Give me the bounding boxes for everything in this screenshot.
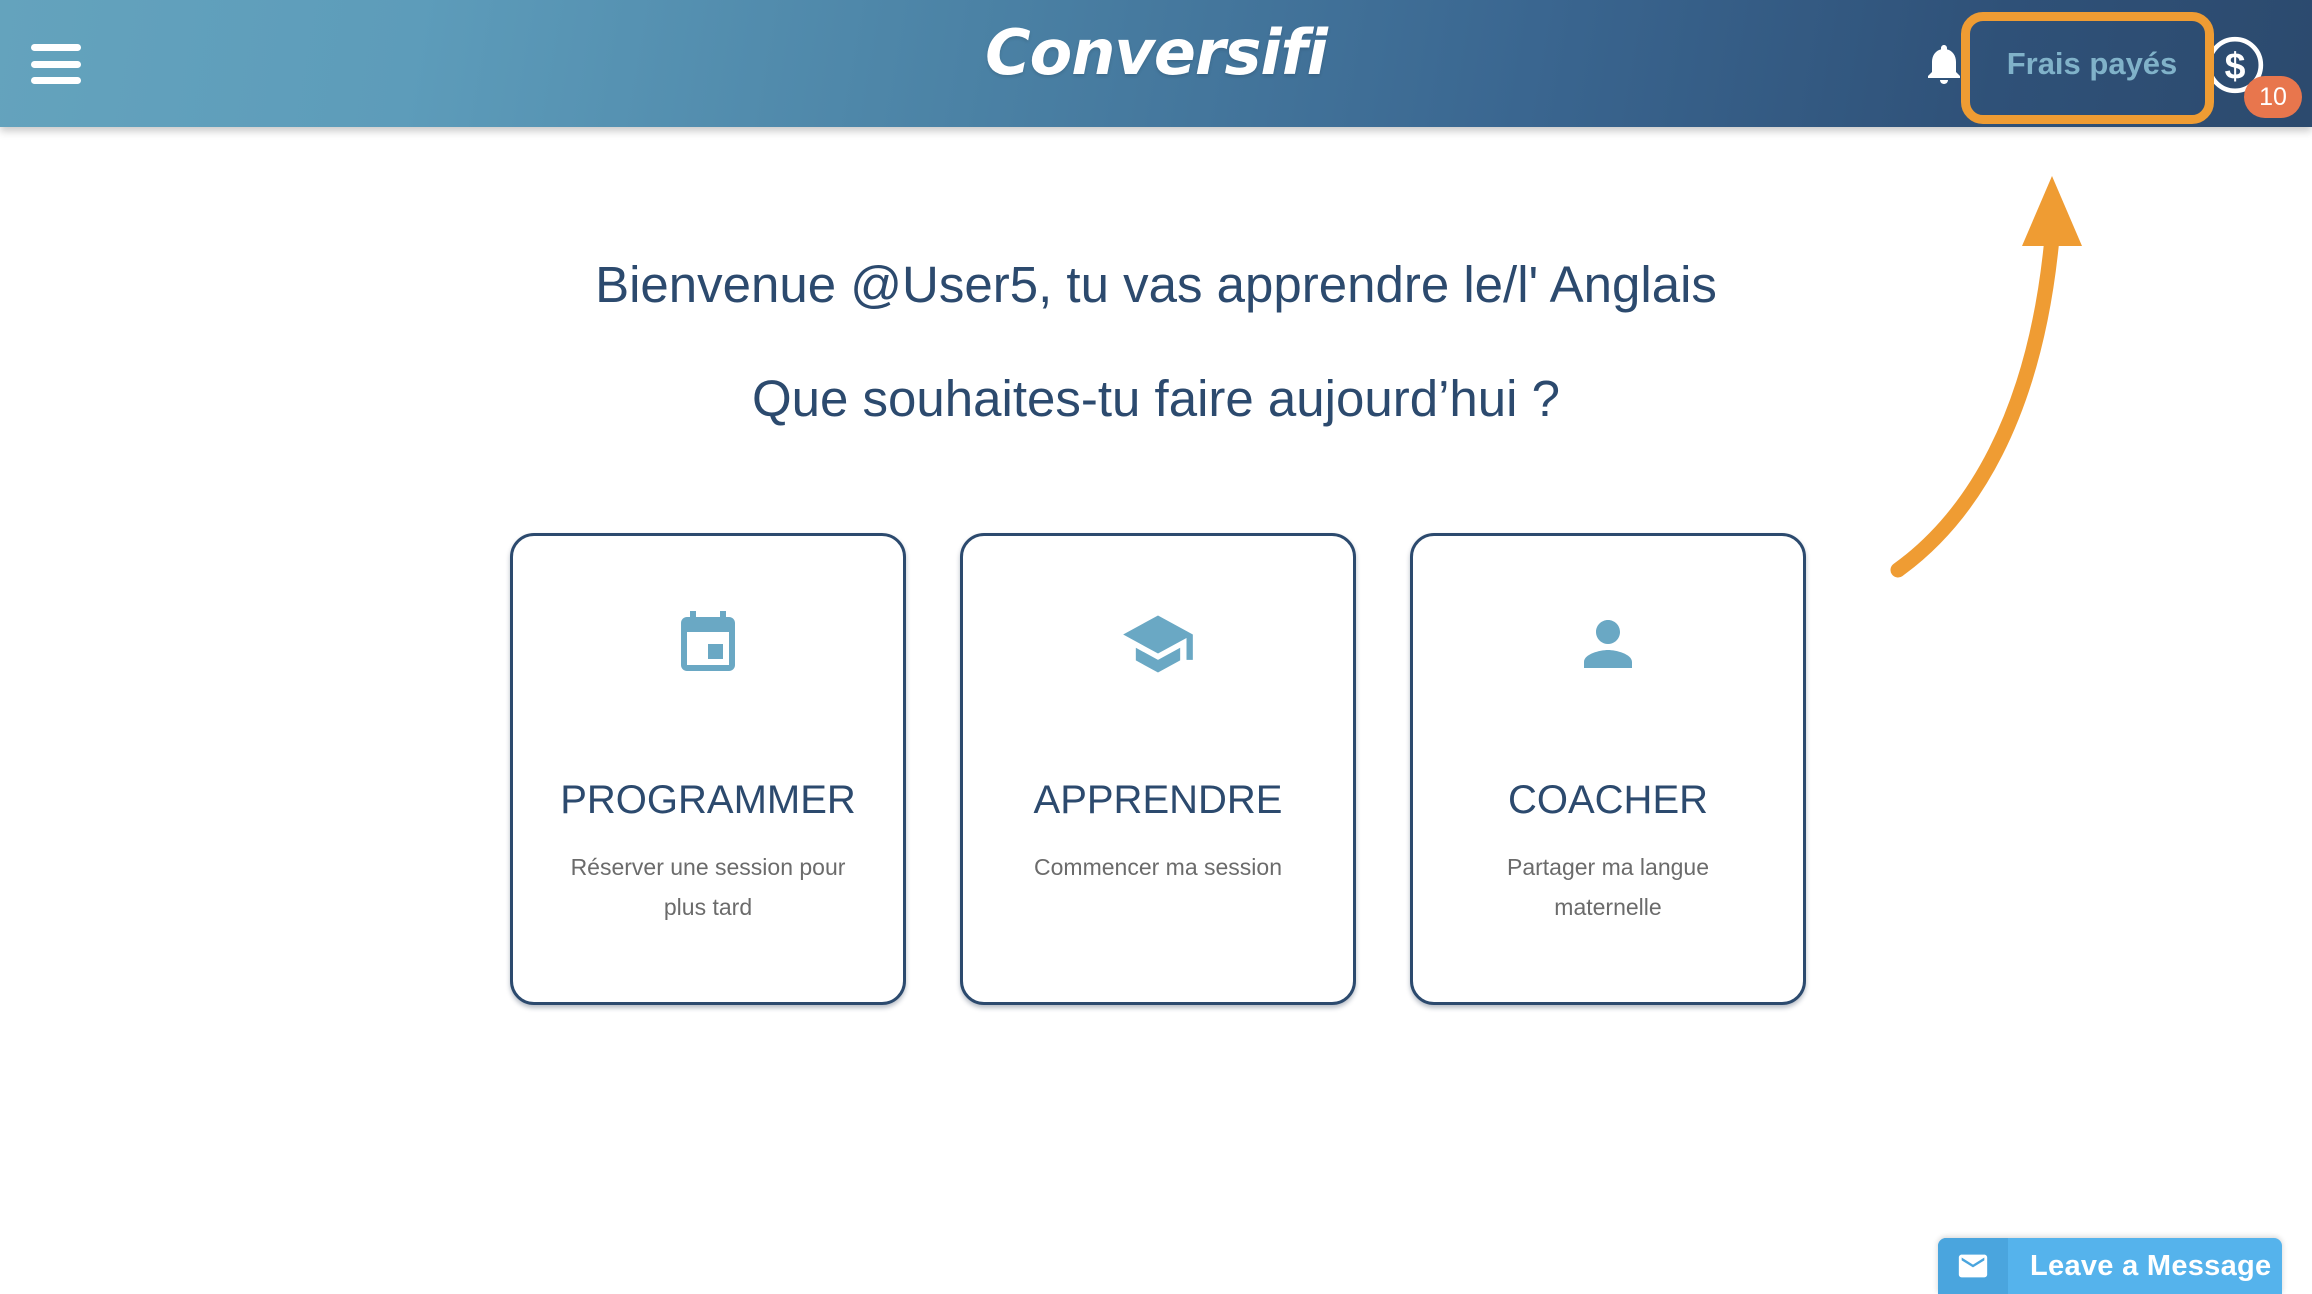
action-card-programmer[interactable]: PROGRAMMER Réserver une session pour plu… — [510, 533, 906, 1005]
card-description: Réserver une session pour plus tard — [558, 847, 858, 927]
card-title: COACHER — [1508, 778, 1708, 823]
card-title: APPRENDRE — [1034, 778, 1283, 823]
person-icon — [1572, 598, 1644, 690]
chat-widget-label: Leave a Message — [2008, 1250, 2282, 1283]
action-card-apprendre[interactable]: APPRENDRE Commencer ma session — [960, 533, 1356, 1005]
coin-count-badge: 10 — [2244, 76, 2302, 118]
welcome-heading-line1: Bienvenue @User5, tu vas apprendre le/l'… — [0, 228, 2312, 342]
card-description: Commencer ma session — [1008, 847, 1308, 887]
card-description: Partager ma langue maternelle — [1458, 847, 1758, 927]
calendar-icon — [672, 598, 744, 690]
graduation-cap-icon — [1120, 598, 1196, 690]
app-header: Conversifi Frais payés $ 10 — [0, 0, 2312, 127]
notification-bell-icon[interactable] — [1920, 38, 1968, 90]
svg-text:$: $ — [2225, 44, 2246, 86]
action-card-coacher[interactable]: COACHER Partager ma langue maternelle — [1410, 533, 1806, 1005]
page-root: Conversifi Frais payés $ 10 Bienvenue @U… — [0, 0, 2312, 1294]
welcome-heading-line2: Que souhaites-tu faire aujourd’hui ? — [0, 342, 2312, 456]
card-title: PROGRAMMER — [560, 778, 856, 823]
action-card-list: PROGRAMMER Réserver une session pour plu… — [510, 533, 1806, 1005]
fees-paid-link[interactable]: Frais payés — [1988, 43, 2196, 85]
leave-a-message-widget[interactable]: Leave a Message — [1938, 1238, 2282, 1294]
envelope-icon — [1938, 1238, 2008, 1294]
